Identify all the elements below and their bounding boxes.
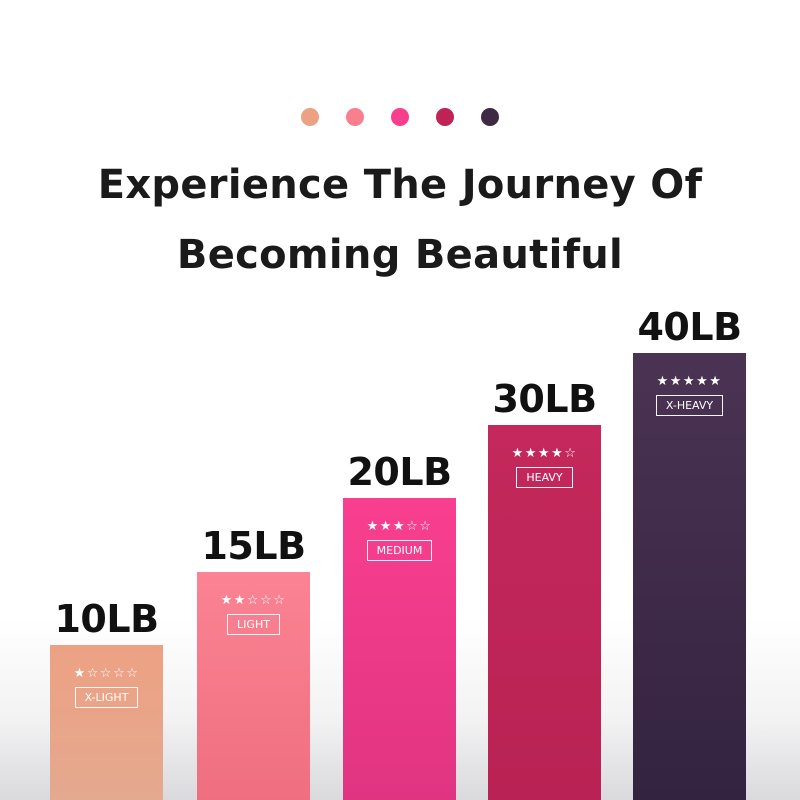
bar-badge: ★★☆☆☆LIGHT	[197, 594, 310, 635]
page-title-line-1: Experience The Journey Of	[0, 150, 800, 220]
dot-pink	[391, 108, 409, 126]
bar-group-15lb[interactable]: 15LB★★☆☆☆LIGHT	[197, 572, 310, 800]
dot-crimson	[436, 108, 454, 126]
rating-stars: ★☆☆☆☆	[74, 667, 140, 680]
dot-salmon	[346, 108, 364, 126]
bar-group-20lb[interactable]: 20LB★★★☆☆MEDIUM	[343, 498, 456, 800]
bar-badge: ★★★★★X-HEAVY	[633, 375, 746, 416]
bar-badge: ★★★★☆HEAVY	[488, 447, 601, 488]
page-title: Experience The Journey Of Becoming Beaut…	[0, 150, 800, 290]
category-label: X-LIGHT	[75, 687, 139, 708]
bar-body: ★★☆☆☆LIGHT	[197, 572, 310, 800]
page-title-line-2: Becoming Beautiful	[0, 220, 800, 290]
bar-group-10lb[interactable]: 10LB★☆☆☆☆X-LIGHT	[50, 645, 163, 800]
rating-stars: ★★★★☆	[512, 447, 578, 460]
category-label: X-HEAVY	[656, 395, 723, 416]
bar-weight-label: 40LB	[633, 305, 746, 349]
bar-badge: ★★★☆☆MEDIUM	[343, 520, 456, 561]
decorative-dot-row	[0, 108, 800, 126]
bar-body: ★☆☆☆☆X-LIGHT	[50, 645, 163, 800]
category-label: HEAVY	[516, 467, 572, 488]
bar-weight-label: 10LB	[50, 597, 163, 641]
rating-stars: ★★★★★	[657, 375, 723, 388]
bar-weight-label: 15LB	[197, 524, 310, 568]
bar-weight-label: 20LB	[343, 450, 456, 494]
category-label: LIGHT	[227, 614, 280, 635]
bar-body: ★★★☆☆MEDIUM	[343, 498, 456, 800]
category-label: MEDIUM	[367, 540, 433, 561]
bar-group-40lb[interactable]: 40LB★★★★★X-HEAVY	[633, 353, 746, 800]
dot-plum	[481, 108, 499, 126]
rating-stars: ★★★☆☆	[367, 520, 433, 533]
bar-badge: ★☆☆☆☆X-LIGHT	[50, 667, 163, 708]
dot-peach	[301, 108, 319, 126]
bar-group-30lb[interactable]: 30LB★★★★☆HEAVY	[488, 425, 601, 800]
bar-body: ★★★★☆HEAVY	[488, 425, 601, 800]
rating-stars: ★★☆☆☆	[221, 594, 287, 607]
bar-body: ★★★★★X-HEAVY	[633, 353, 746, 800]
bar-weight-label: 30LB	[488, 377, 601, 421]
